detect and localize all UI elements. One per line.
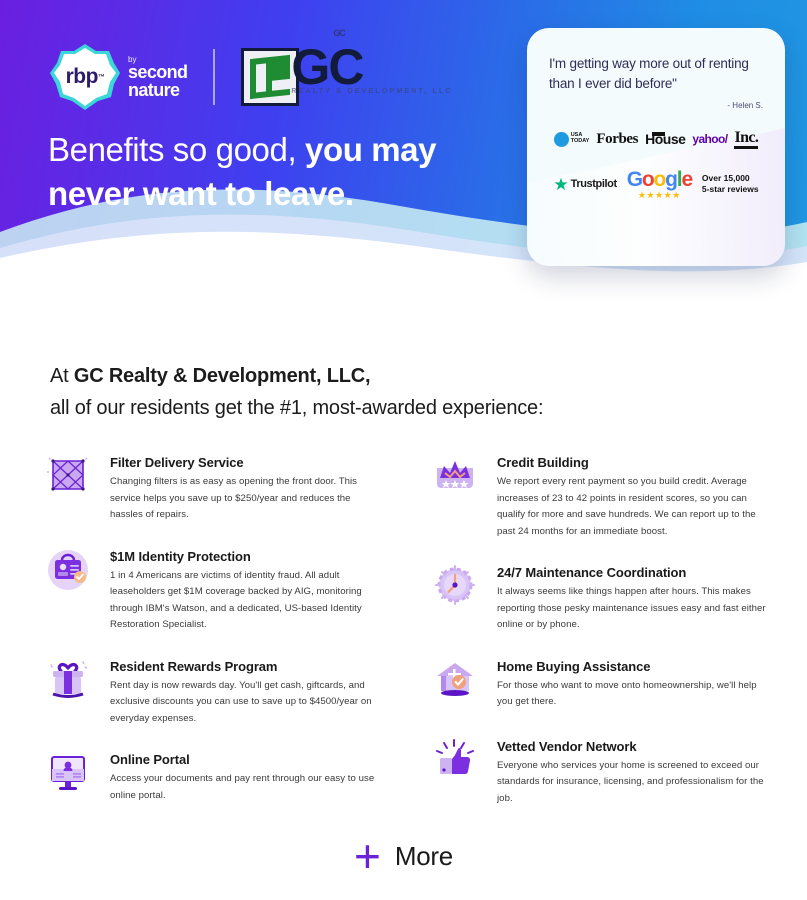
usa-today-logo: USA TODAY xyxy=(554,132,590,147)
second-label: second xyxy=(128,63,187,81)
id-badge-shield-icon xyxy=(40,546,96,604)
more-row[interactable]: + More xyxy=(0,840,807,872)
google-stars-icon: ★★★★★ xyxy=(627,191,692,200)
benefit-description: For those who want to move onto homeowne… xyxy=(497,678,770,711)
usa-today-text: USA TODAY xyxy=(571,133,590,145)
benefit-description: It always seems like things happen after… xyxy=(497,584,770,634)
gc-realty-logo: GC GC REALTY & DEVELOPMENT, LLC xyxy=(241,44,452,110)
gc-subtitle: REALTY & DEVELOPMENT, LLC xyxy=(291,88,452,95)
benefit-title: Filter Delivery Service xyxy=(110,455,383,470)
reviews-line2: 5-star reviews xyxy=(702,184,759,195)
clock-icon xyxy=(427,562,483,620)
benefit-item: 24/7 Maintenance Coordination It always … xyxy=(427,562,770,634)
trustpilot-label: Trustpilot xyxy=(571,178,617,190)
benefit-text: Filter Delivery Service Changing filters… xyxy=(110,452,383,524)
usa-line2: TODAY xyxy=(571,139,590,145)
nature-label: nature xyxy=(128,81,187,99)
rbp-trademark: ™ xyxy=(98,74,105,81)
benefit-item: $1M Identity Protection 1 in 4 Americans… xyxy=(40,546,383,634)
intro-text: At GC Realty & Development, LLC, all of … xyxy=(50,360,750,425)
usa-today-dot-icon xyxy=(554,132,569,147)
benefits-columns: Filter Delivery Service Changing filters… xyxy=(40,452,770,829)
benefit-description: Changing filters is as easy as opening t… xyxy=(110,474,383,524)
press-logo-row: USA TODAY Forbes House yahoo/ Inc. xyxy=(527,130,785,149)
rbp-wordmark: rbp™ xyxy=(48,42,122,112)
more-label: More xyxy=(395,841,453,872)
testimonial-card: I'm getting way more out of renting than… xyxy=(527,28,785,266)
google-wordmark: Google xyxy=(627,169,692,190)
by-label: by xyxy=(128,56,187,64)
benefit-title: 24/7 Maintenance Coordination xyxy=(497,565,770,580)
intro-line-1: At GC Realty & Development, LLC, xyxy=(50,360,750,392)
benefits-column-left: Filter Delivery Service Changing filters… xyxy=(40,452,383,829)
headline-bold-part-2: never want to leave. xyxy=(48,175,354,212)
hero-headline: Benefits so good, you may never want to … xyxy=(48,128,518,216)
headline-bold-part-1: you may xyxy=(305,131,436,168)
gc-wordmark-wrap: GC GC REALTY & DEVELOPMENT, LLC xyxy=(291,44,452,95)
desktop-monitor-icon xyxy=(40,749,96,807)
thumbs-up-icon xyxy=(427,736,483,794)
rbp-logo: rbp™ xyxy=(48,42,122,112)
benefit-title: Vetted Vendor Network xyxy=(497,739,770,754)
rbp-mark-text: rbp xyxy=(66,65,98,89)
benefit-text: Resident Rewards Program Rent day is now… xyxy=(110,656,383,728)
benefit-text: Online Portal Access your documents and … xyxy=(110,749,383,807)
brand-logo-row: rbp™ by second nature GC GC REALTY & DEV… xyxy=(48,44,453,110)
crown-stars-icon xyxy=(427,452,483,510)
benefit-title: Credit Building xyxy=(497,455,770,470)
intro-line-2: all of our residents get the #1, most-aw… xyxy=(50,392,750,424)
benefit-text: Home Buying Assistance For those who wan… xyxy=(497,656,770,714)
benefit-description: Rent day is now rewards day. You'll get … xyxy=(110,678,383,728)
benefit-text: $1M Identity Protection 1 in 4 Americans… xyxy=(110,546,383,634)
gc-word: GC xyxy=(291,44,452,92)
benefit-title: Home Buying Assistance xyxy=(497,659,770,674)
trustpilot-logo: ★ Trustpilot xyxy=(553,176,616,193)
trustpilot-star-icon: ★ xyxy=(553,176,568,193)
rating-logo-row: ★ Trustpilot Google ★★★★★ Over 15,000 5-… xyxy=(527,169,785,200)
benefit-text: Vetted Vendor Network Everyone who servi… xyxy=(497,736,770,808)
gc-green-g-shape xyxy=(250,55,290,99)
gc-badge-top-text: GC xyxy=(333,28,345,38)
benefit-item: Resident Rewards Program Rent day is now… xyxy=(40,656,383,728)
house-logo: House xyxy=(645,131,685,147)
forbes-logo: Forbes xyxy=(596,131,638,148)
air-filter-icon xyxy=(40,452,96,510)
google-reviews-logo: Google ★★★★★ xyxy=(627,169,692,200)
reviews-count: Over 15,000 5-star reviews xyxy=(702,173,759,196)
benefit-title: Resident Rewards Program xyxy=(110,659,383,674)
intro-company-name: GC Realty & Development, LLC, xyxy=(74,365,370,387)
plus-icon: + xyxy=(354,840,381,872)
benefit-description: 1 in 4 Americans are victims of identity… xyxy=(110,568,383,634)
benefit-item: Filter Delivery Service Changing filters… xyxy=(40,452,383,524)
benefit-item: Credit Building We report every rent pay… xyxy=(427,452,770,540)
second-nature-wordmark: by second nature xyxy=(128,56,187,99)
intro-prefix: At xyxy=(50,365,74,387)
benefit-text: 24/7 Maintenance Coordination It always … xyxy=(497,562,770,634)
benefits-column-right: Credit Building We report every rent pay… xyxy=(427,452,770,829)
inc-logo: Inc. xyxy=(734,130,758,149)
benefit-item: Home Buying Assistance For those who wan… xyxy=(427,656,770,714)
logo-divider xyxy=(213,49,215,105)
benefit-title: $1M Identity Protection xyxy=(110,549,383,564)
benefit-text: Credit Building We report every rent pay… xyxy=(497,452,770,540)
benefit-item: Online Portal Access your documents and … xyxy=(40,749,383,807)
testimonial-attribution: - Helen S. xyxy=(527,101,763,110)
benefit-description: Everyone who services your home is scree… xyxy=(497,758,770,808)
hero-section: rbp™ by second nature GC GC REALTY & DEV… xyxy=(0,0,807,300)
benefit-description: We report every rent payment so you buil… xyxy=(497,474,770,540)
headline-light-part: Benefits so good, xyxy=(48,131,296,168)
house-check-icon xyxy=(427,656,483,714)
reviews-line1: Over 15,000 xyxy=(702,173,759,184)
benefit-description: Access your documents and pay rent throu… xyxy=(110,771,383,804)
benefit-title: Online Portal xyxy=(110,752,383,767)
benefit-item: Vetted Vendor Network Everyone who servi… xyxy=(427,736,770,808)
testimonial-quote: I'm getting way more out of renting than… xyxy=(549,54,765,95)
gift-box-icon xyxy=(40,656,96,714)
benefits-flyer: rbp™ by second nature GC GC REALTY & DEV… xyxy=(0,0,807,900)
yahoo-logo: yahoo/ xyxy=(692,132,727,146)
